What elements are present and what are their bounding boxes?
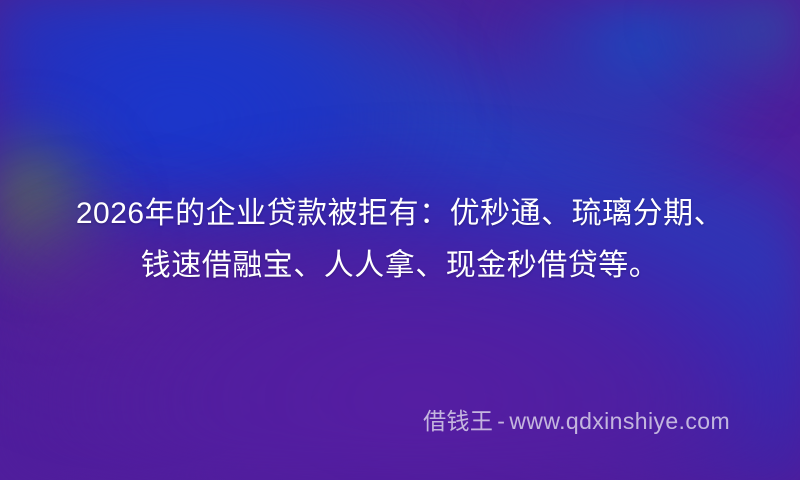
headline-text: 2026年的企业贷款被拒有：优秒通、琉璃分期、 钱速借融宝、人人拿、现金秒借贷等…	[0, 188, 800, 292]
image-canvas: 2026年的企业贷款被拒有：优秒通、琉璃分期、 钱速借融宝、人人拿、现金秒借贷等…	[0, 0, 800, 480]
watermark-separator: -	[493, 408, 509, 434]
watermark: 借钱王-www.qdxinshiye.com	[423, 406, 730, 436]
headline-line-2: 钱速借融宝、人人拿、现金秒借贷等。	[0, 240, 800, 292]
headline-line-1: 2026年的企业贷款被拒有：优秒通、琉璃分期、	[0, 188, 800, 240]
watermark-brand: 借钱王	[423, 408, 493, 434]
watermark-url: www.qdxinshiye.com	[509, 408, 730, 434]
